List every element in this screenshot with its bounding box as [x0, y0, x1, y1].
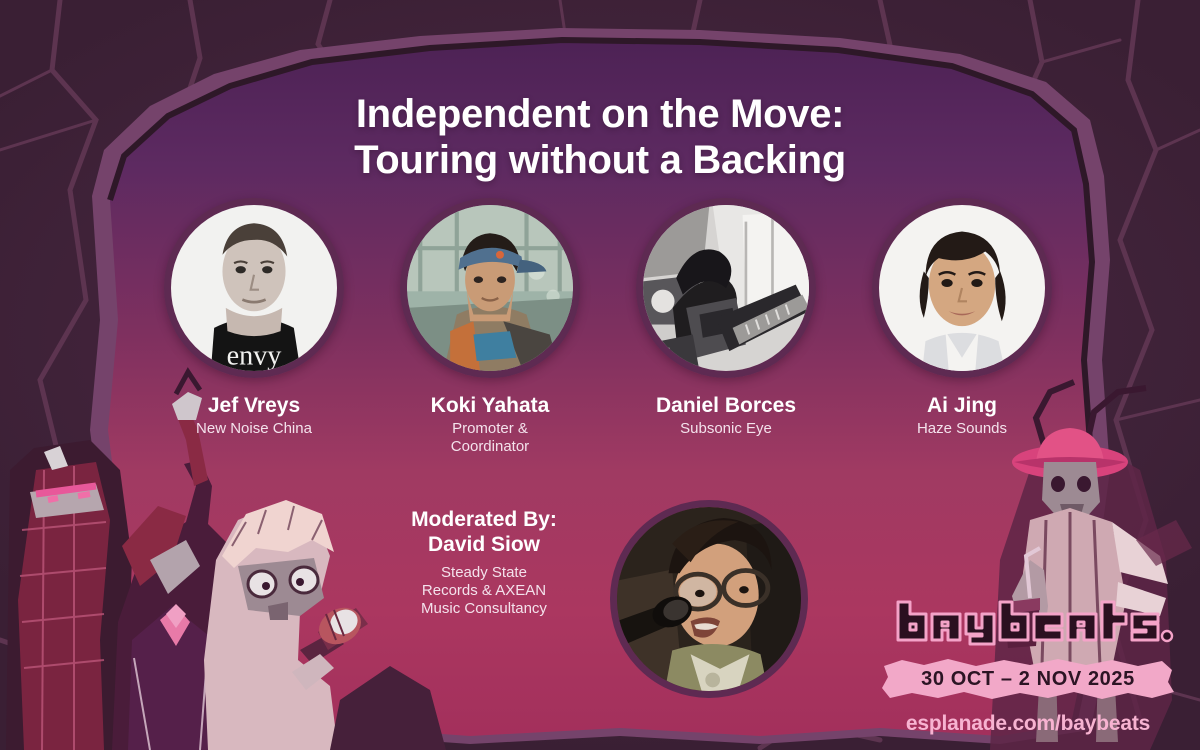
portrait-daniel-borces-photo [643, 205, 809, 371]
speaker-card: Ai Jing Haze Sounds [856, 198, 1068, 438]
svg-text:envy: envy [227, 340, 282, 371]
avatar [400, 198, 580, 378]
speaker-card: Koki Yahata Promoter & Coordinator [384, 198, 596, 457]
speaker-card: envy Jef Vreys New Noise China [148, 198, 360, 438]
speaker-name: Koki Yahata [431, 394, 550, 417]
speaker-card: Daniel Borces Subsonic Eye [620, 198, 832, 438]
speaker-name: Daniel Borces [656, 394, 796, 417]
moderator-block: Moderated By: David Siow Steady State Re… [388, 500, 848, 698]
moderator-lead-line: Moderated By: [411, 508, 557, 531]
speaker-list: envy Jef Vreys New Noise China [148, 198, 1068, 457]
moderator-affiliation: Steady State Records & AXEAN Music Consu… [388, 564, 580, 619]
avatar [610, 500, 808, 698]
baybeats-panel-poster: Independent on the Move: Touring without… [0, 0, 1200, 750]
moderator-name: David Siow [428, 533, 540, 556]
speaker-name: Ai Jing [927, 394, 997, 417]
portrait-david-siow-photo [617, 507, 801, 691]
page-title: Independent on the Move: Touring without… [0, 92, 1200, 183]
portrait-jef-vreys-photo: envy [171, 205, 337, 371]
portrait-ai-jing-photo [879, 205, 1045, 371]
moderator-text: Moderated By: David Siow Steady State Re… [388, 500, 580, 618]
speaker-name: Jef Vreys [208, 394, 300, 417]
festival-url[interactable]: esplanade.com/baybeats [880, 712, 1176, 736]
avatar [872, 198, 1052, 378]
baybeats-wordmark [894, 596, 1176, 648]
poster-content: Independent on the Move: Touring without… [0, 0, 1200, 750]
speaker-role: Haze Sounds [917, 420, 1007, 438]
festival-dates-banner: 30 OCT – 2 NOV 2025 [880, 656, 1176, 702]
title-line-1: Independent on the Move: [356, 92, 844, 136]
avatar [636, 198, 816, 378]
moderator-avatar-wrap [610, 500, 808, 698]
baybeats-branding: 30 OCT – 2 NOV 2025 esplanade.com/baybea… [880, 596, 1176, 736]
festival-dates: 30 OCT – 2 NOV 2025 [880, 656, 1176, 702]
title-line-2: Touring without a Backing [0, 138, 1200, 184]
portrait-koki-yahata-photo [407, 205, 573, 371]
moderator-label: Moderated By: David Siow [388, 508, 580, 558]
speaker-role: Promoter & Coordinator [451, 420, 529, 457]
speaker-role: Subsonic Eye [680, 420, 772, 438]
speaker-role: New Noise China [196, 420, 312, 438]
avatar: envy [164, 198, 344, 378]
